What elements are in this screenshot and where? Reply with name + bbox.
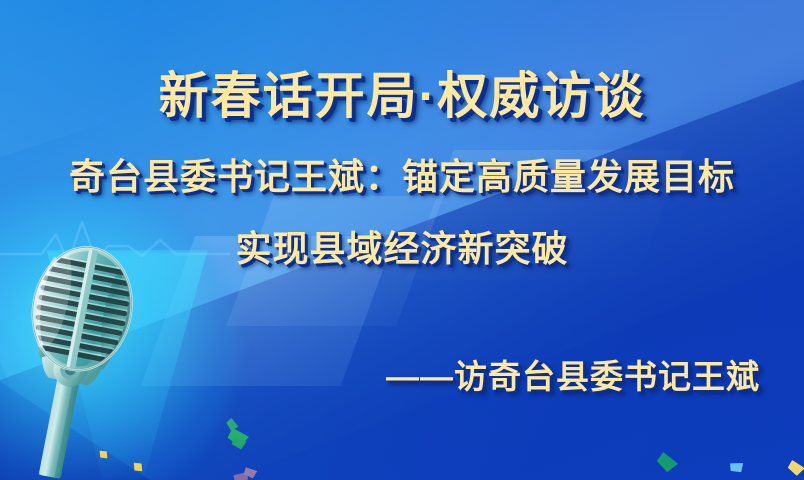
page-title: 新春话开局·权威访谈 <box>0 56 804 128</box>
banner-text-block: 新春话开局·权威访谈 奇台县委书记王斌：锚定高质量发展目标 实现县域经济新突破 … <box>0 0 804 480</box>
subtitle-line-2: 实现县域经济新突破 <box>0 220 804 272</box>
subtitle-line-1: 奇台县委书记王斌：锚定高质量发展目标 <box>0 148 804 200</box>
news-banner-image: 新春话开局·权威访谈 奇台县委书记王斌：锚定高质量发展目标 实现县域经济新突破 … <box>0 0 804 480</box>
attribution-line: ——访奇台县委书记王斌 <box>386 350 760 398</box>
